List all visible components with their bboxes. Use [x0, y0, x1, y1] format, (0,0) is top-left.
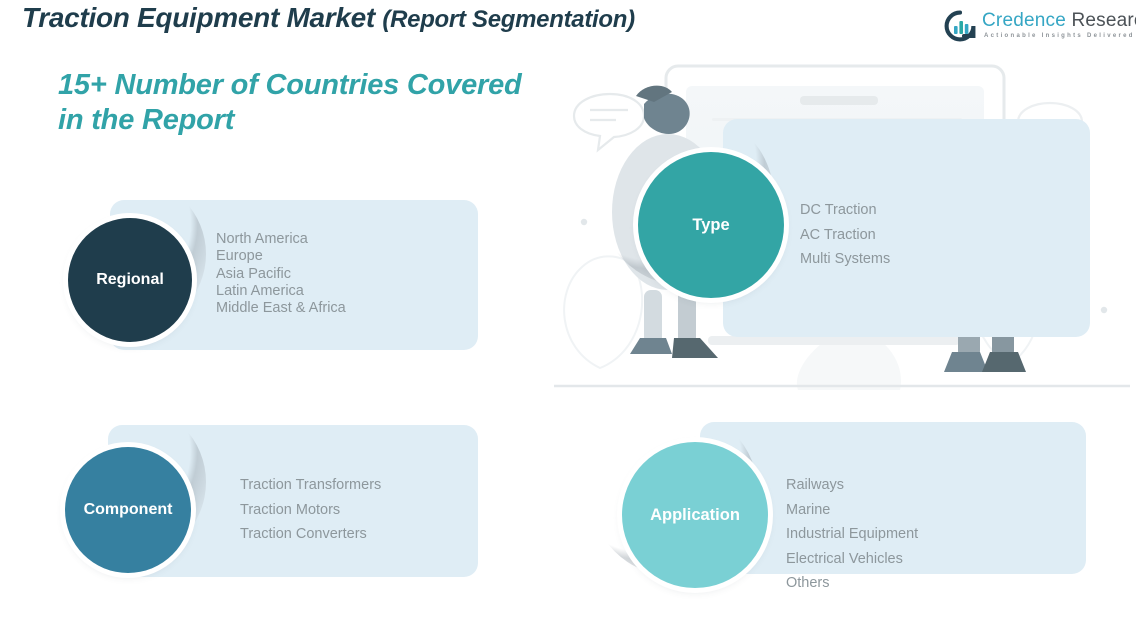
list-item: Multi Systems: [800, 247, 890, 272]
segment-item-list: Traction Transformers Traction Motors Tr…: [240, 473, 381, 547]
segment-bubble-type[interactable]: Type: [638, 152, 784, 298]
list-item: AC Traction: [800, 223, 890, 248]
page-title-main: Traction Equipment Market: [22, 2, 382, 33]
segment-item-list: Railways Marine Industrial Equipment Ele…: [786, 473, 918, 596]
list-item: Electrical Vehicles: [786, 547, 918, 572]
list-item: Industrial Equipment: [786, 522, 918, 547]
segment-bubble-label: Component: [84, 501, 173, 519]
list-item: Others: [786, 571, 918, 596]
infographic-canvas: Traction Equipment Market (Report Segmen…: [0, 0, 1136, 630]
list-item: Europe: [216, 248, 346, 265]
list-item: Traction Converters: [240, 522, 381, 547]
logo-wordmark: Credence Research: [982, 10, 1136, 32]
segment-item-list: North America Europe Asia Pacific Latin …: [216, 231, 346, 317]
segment-bubble-regional[interactable]: Regional: [68, 218, 192, 342]
segment-bubble-application[interactable]: Application: [622, 442, 768, 588]
list-item: Marine: [786, 498, 918, 523]
logo-word-credence: Credence: [982, 10, 1066, 31]
list-item: Traction Motors: [240, 498, 381, 523]
segment-bubble-label: Regional: [96, 271, 164, 289]
page-title-parenthetical: (Report Segmentation): [382, 6, 634, 33]
bar-chart-circle-icon: [944, 10, 976, 42]
list-item: Traction Transformers: [240, 473, 381, 498]
list-item: Asia Pacific: [216, 266, 346, 283]
list-item: North America: [216, 231, 346, 248]
list-item: DC Traction: [800, 198, 890, 223]
logo-tagline: Actionable Insights Delivered: [984, 33, 1135, 39]
page-title: Traction Equipment Market (Report Segmen…: [22, 2, 635, 34]
segment-bubble-label: Application: [650, 506, 740, 525]
list-item: Railways: [786, 473, 918, 498]
list-item: Latin America: [216, 283, 346, 300]
segment-bubble-label: Type: [692, 216, 729, 235]
segment-bubble-component[interactable]: Component: [65, 447, 191, 573]
subtitle-countries-covered: 15+ Number of Countries Covered in the R…: [58, 68, 528, 139]
logo-word-research: Research: [1066, 10, 1136, 31]
credence-research-logo[interactable]: Credence Research Actionable Insights De…: [944, 8, 1136, 48]
list-item: Middle East & Africa: [216, 300, 346, 317]
segment-item-list: DC Traction AC Traction Multi Systems: [800, 198, 890, 272]
